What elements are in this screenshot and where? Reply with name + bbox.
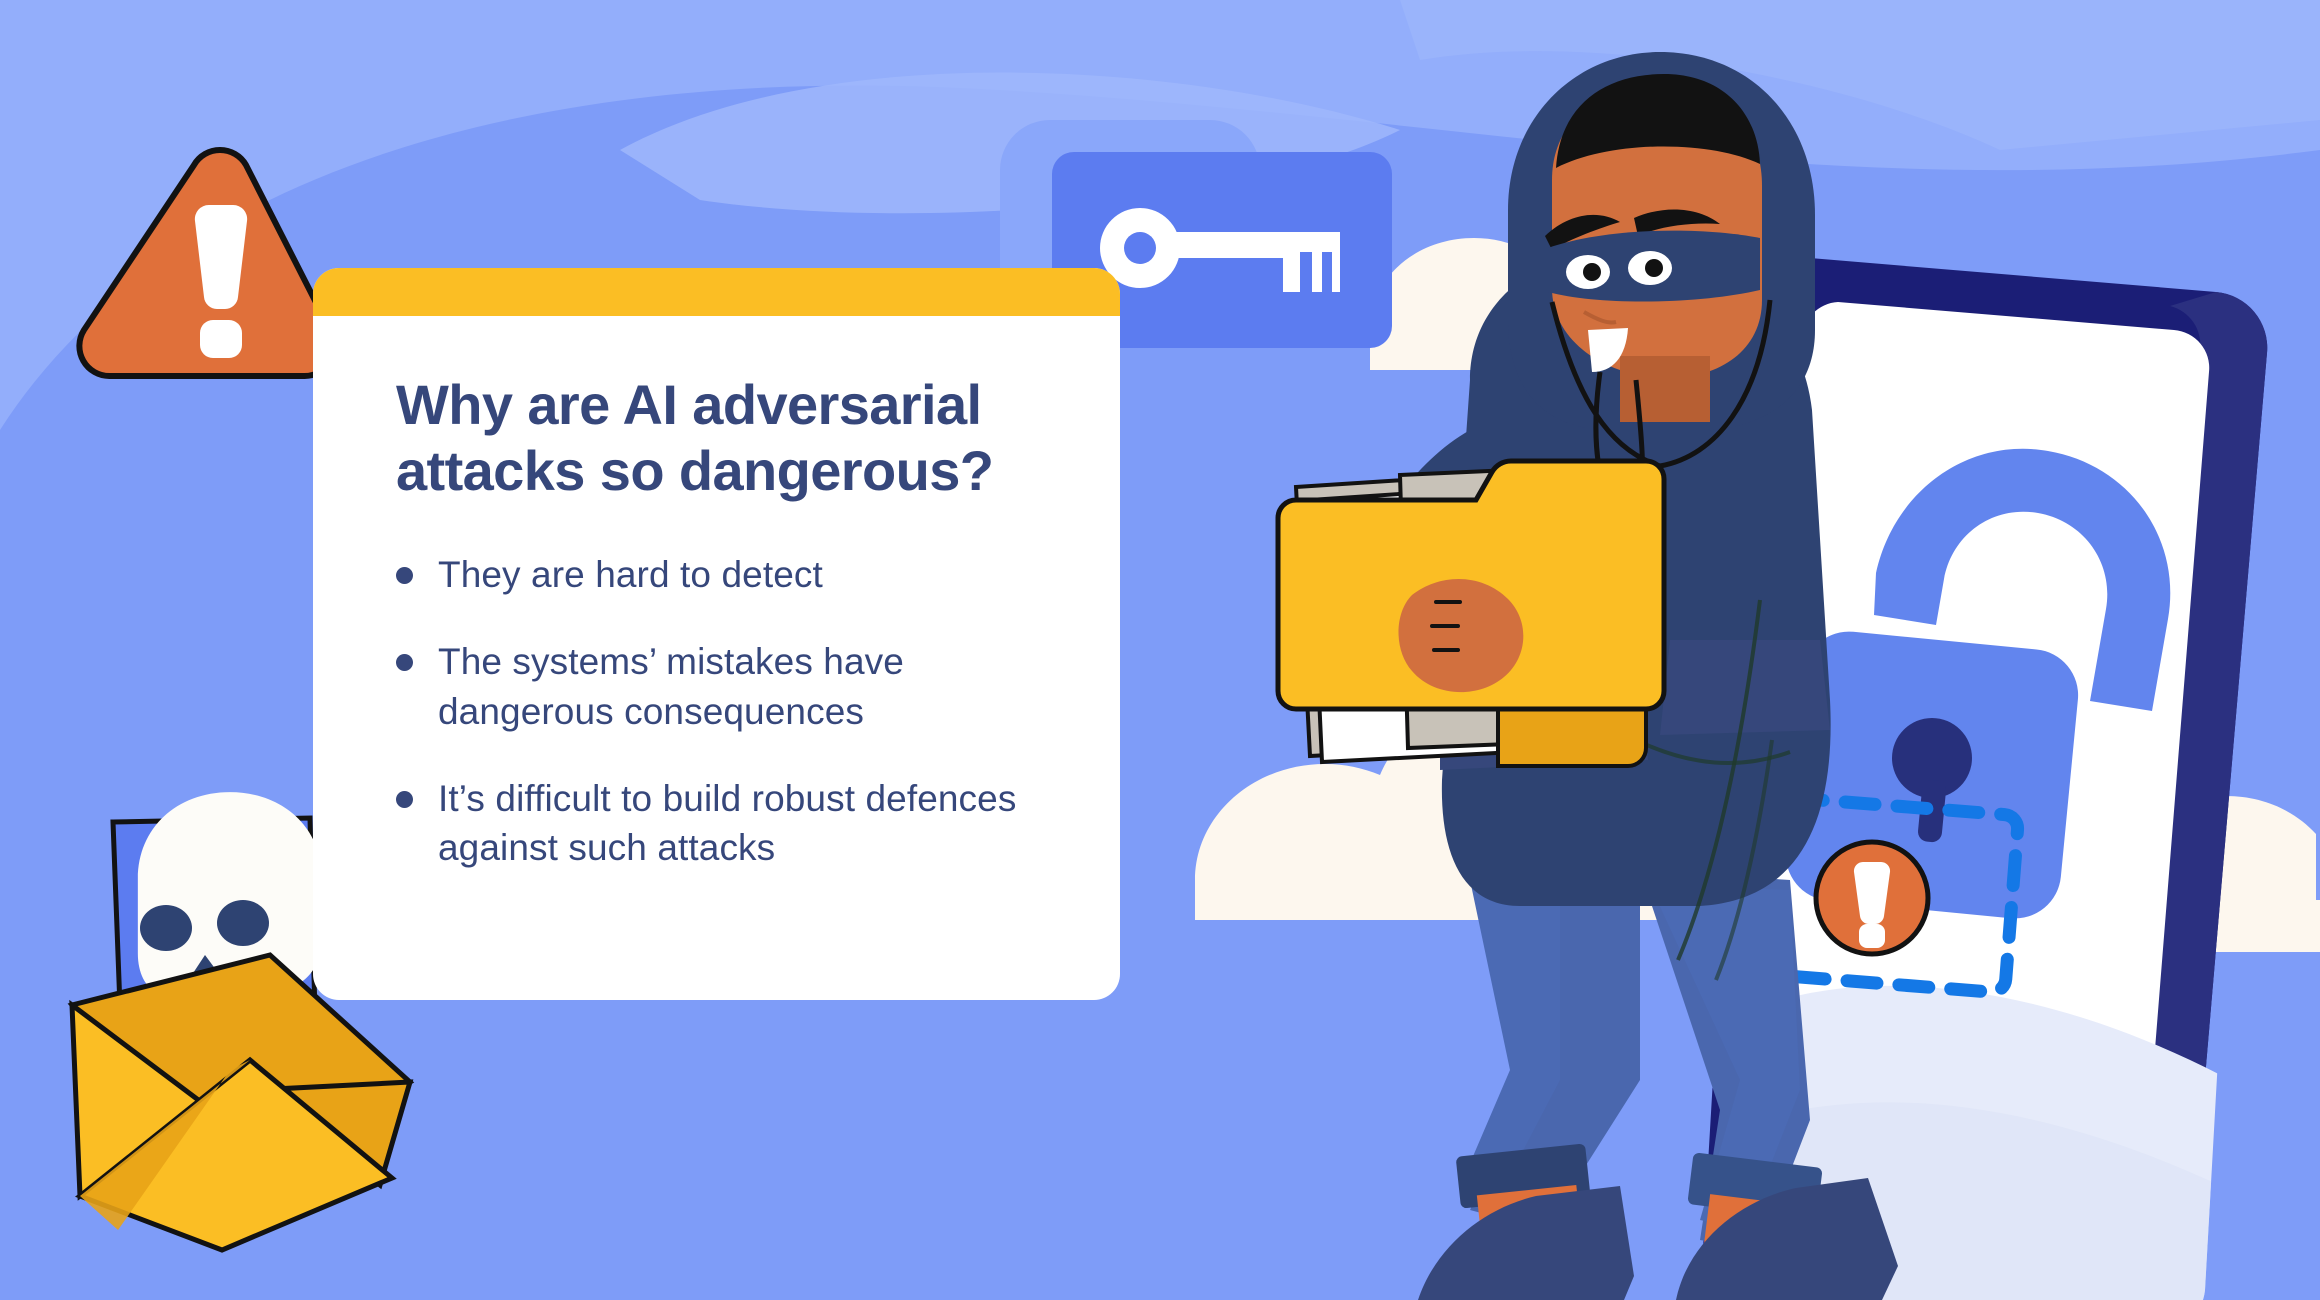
list-item-label: They are hard to detect bbox=[438, 554, 823, 595]
bullet-dot-icon bbox=[396, 791, 413, 808]
list-item-label: It’s difficult to build robust defences … bbox=[438, 778, 1016, 868]
card-body: Why are AI adversarial attacks so danger… bbox=[313, 316, 1120, 872]
alert-circle-icon bbox=[1816, 842, 1928, 954]
list-item-label: The systems’ mistakes have dangerous con… bbox=[438, 641, 904, 731]
bullet-dot-icon bbox=[396, 567, 413, 584]
bullet-dot-icon bbox=[396, 654, 413, 671]
page-title: Why are AI adversarial attacks so danger… bbox=[396, 372, 1036, 504]
list-item: It’s difficult to build robust defences … bbox=[396, 774, 1058, 872]
bullet-list: They are hard to detect The systems’ mis… bbox=[396, 550, 1058, 872]
list-item: The systems’ mistakes have dangerous con… bbox=[396, 637, 1058, 735]
document-folder-icon bbox=[1278, 461, 1664, 766]
info-card: Why are AI adversarial attacks so danger… bbox=[313, 268, 1120, 1000]
card-top-strip bbox=[313, 268, 1120, 316]
illustration-banner: Why are AI adversarial attacks so danger… bbox=[0, 0, 2320, 1300]
list-item: They are hard to detect bbox=[396, 550, 1058, 599]
